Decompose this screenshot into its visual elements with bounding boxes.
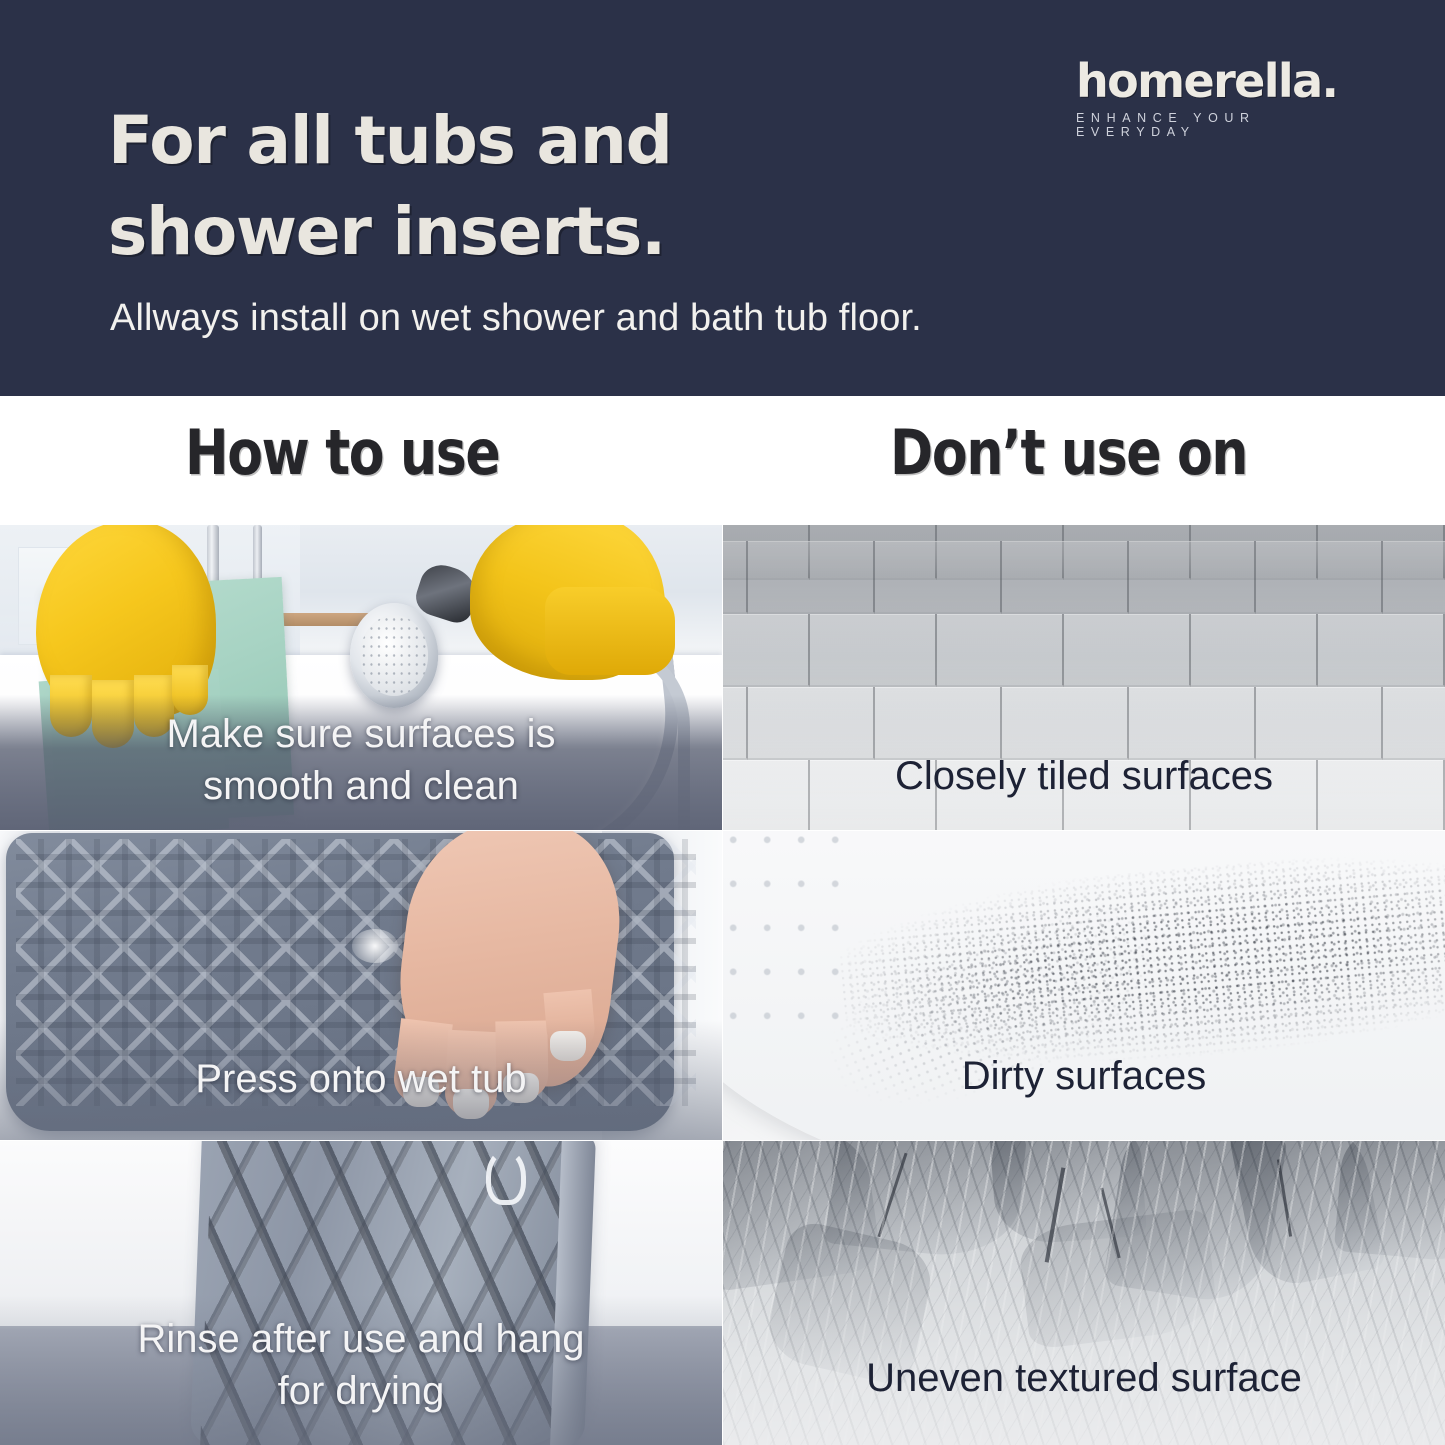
column-headings: How to use Don’t use on [0,396,1445,525]
product-infographic: For all tubs and shower inserts. Allways… [0,0,1445,1445]
dont-use-on-item-1: Closely tiled surfaces [723,525,1445,830]
how-to-use-step-1: Make sure surfaces is smooth and clean [0,525,722,830]
heading-how-to-use: How to use [185,416,499,489]
caption-step-1-line2: smooth and clean [0,763,722,810]
page-title: For all tubs and shower inserts. [108,95,868,277]
caption-step-2-line1: Press onto wet tub [0,1056,722,1103]
how-to-use-step-2: Press onto wet tub [0,831,722,1140]
caption-dont-1: Closely tiled surfaces [723,753,1445,800]
page-subtitle: Allways install on wet shower and bath t… [110,296,1290,342]
header-banner: For all tubs and shower inserts. Allways… [0,0,1445,396]
dont-use-on-item-3: Uneven textured surface [723,1141,1445,1445]
brand-logo: homerella. ENHANCE YOUR EVERYDAY [1076,58,1376,139]
caption-step-1-line1: Make sure surfaces is [0,711,722,758]
caption-dont-3: Uneven textured surface [723,1355,1445,1402]
heading-dont-use-on: Don’t use on [890,416,1247,489]
dont-use-on-item-2: Dirty surfaces [723,831,1445,1140]
instruction-grid: Make sure surfaces is smooth and clean P… [0,525,1445,1445]
brand-name: homerella. [1076,58,1376,104]
caption-step-3-line1: Rinse after use and hang [0,1316,722,1363]
caption-dont-2: Dirty surfaces [723,1053,1445,1100]
brand-tagline: ENHANCE YOUR EVERYDAY [1076,111,1376,139]
how-to-use-step-3: Rinse after use and hang for drying [0,1141,722,1445]
caption-step-3-line2: for drying [0,1368,722,1415]
